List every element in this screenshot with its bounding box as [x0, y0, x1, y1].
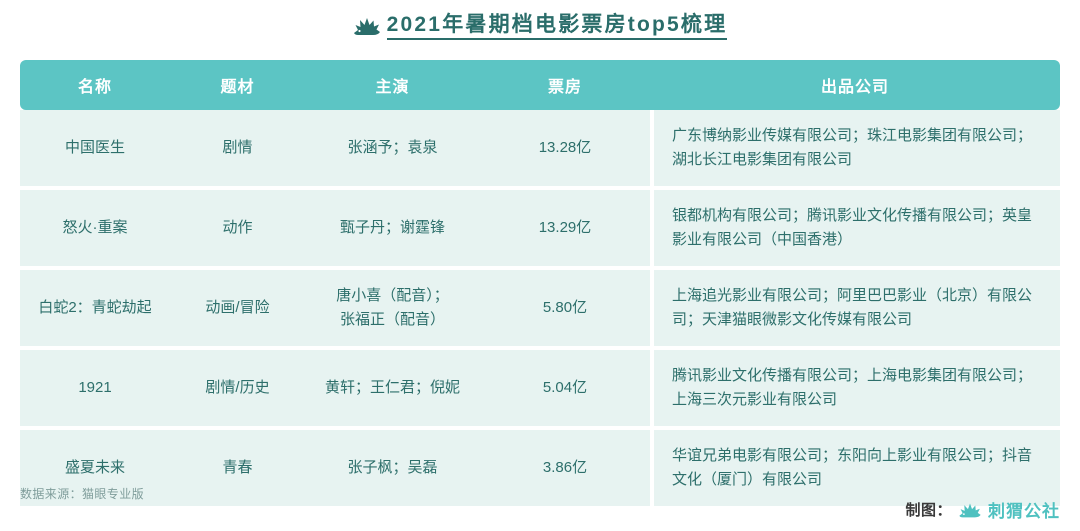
cell-actors: 张子枫；吴磊 — [305, 430, 480, 506]
page-title: 2021年暑期档电影票房top5梳理 — [0, 0, 1080, 38]
cell-actors: 张涵予；袁泉 — [305, 110, 480, 190]
credit-block: 制图： 刺猬公社 — [905, 497, 1060, 522]
column-header-name: 名称 — [20, 60, 170, 110]
cell-name: 白蛇2：青蛇劫起 — [20, 270, 170, 350]
cell-boxoffice: 13.29亿 — [480, 190, 650, 270]
table-row: 1921 剧情/历史 黄轩；王仁君；倪妮 5.04亿 腾讯影业文化传播有限公司；… — [20, 350, 1060, 430]
infographic-page: 2021年暑期档电影票房top5梳理 名称 题材 主演 票房 出品公司 中国医生… — [0, 0, 1080, 531]
cell-company: 华谊兄弟电影有限公司；东阳向上影业有限公司；抖音文化（厦门）有限公司 — [650, 430, 1060, 506]
cell-actors: 黄轩；王仁君；倪妮 — [305, 350, 480, 430]
cell-genre: 剧情/历史 — [170, 350, 305, 430]
cell-name: 中国医生 — [20, 110, 170, 190]
table-row: 白蛇2：青蛇劫起 动画/冒险 唐小喜（配音）； 张福正（配音） 5.80亿 上海… — [20, 270, 1060, 350]
cell-genre: 动作 — [170, 190, 305, 270]
cell-company: 上海追光影业有限公司；阿里巴巴影业（北京）有限公司；天津猫眼微影文化传媒有限公司 — [650, 270, 1060, 350]
hedgehog-icon — [957, 501, 983, 519]
hedgehog-icon — [353, 15, 381, 37]
cell-actors: 唐小喜（配音）； 张福正（配音） — [305, 270, 480, 350]
table-row: 中国医生 剧情 张涵予；袁泉 13.28亿 广东博纳影业传媒有限公司；珠江电影集… — [20, 110, 1060, 190]
cell-genre: 动画/冒险 — [170, 270, 305, 350]
column-header-boxoffice: 票房 — [480, 60, 650, 110]
table-row: 盛夏未来 青春 张子枫；吴磊 3.86亿 华谊兄弟电影有限公司；东阳向上影业有限… — [20, 430, 1060, 506]
column-header-genre: 题材 — [170, 60, 305, 110]
data-source-note: 数据来源：猫眼专业版 — [20, 485, 144, 502]
credit-label: 制图： — [905, 499, 952, 520]
cell-genre: 青春 — [170, 430, 305, 506]
page-title-text: 2021年暑期档电影票房top5梳理 — [387, 12, 728, 40]
table-header-row: 名称 题材 主演 票房 出品公司 — [20, 60, 1060, 110]
cell-genre: 剧情 — [170, 110, 305, 190]
cell-name: 1921 — [20, 350, 170, 430]
table-row: 怒火·重案 动作 甄子丹；谢霆锋 13.29亿 银都机构有限公司；腾讯影业文化传… — [20, 190, 1060, 270]
cell-boxoffice: 5.04亿 — [480, 350, 650, 430]
cell-boxoffice: 13.28亿 — [480, 110, 650, 190]
cell-boxoffice: 3.86亿 — [480, 430, 650, 506]
cell-actors: 甄子丹；谢霆锋 — [305, 190, 480, 270]
column-header-actors: 主演 — [305, 60, 480, 110]
column-header-company: 出品公司 — [650, 60, 1060, 110]
credit-brand-name: 刺猬公社 — [988, 497, 1060, 522]
cell-company: 银都机构有限公司；腾讯影业文化传播有限公司；英皇影业有限公司（中国香港） — [650, 190, 1060, 270]
cell-company: 腾讯影业文化传播有限公司；上海电影集团有限公司；上海三次元影业有限公司 — [650, 350, 1060, 430]
cell-name: 怒火·重案 — [20, 190, 170, 270]
cell-boxoffice: 5.80亿 — [480, 270, 650, 350]
cell-company: 广东博纳影业传媒有限公司；珠江电影集团有限公司；湖北长江电影集团有限公司 — [650, 110, 1060, 190]
movie-boxoffice-table: 名称 题材 主演 票房 出品公司 中国医生 剧情 张涵予；袁泉 13.28亿 广… — [20, 60, 1060, 506]
